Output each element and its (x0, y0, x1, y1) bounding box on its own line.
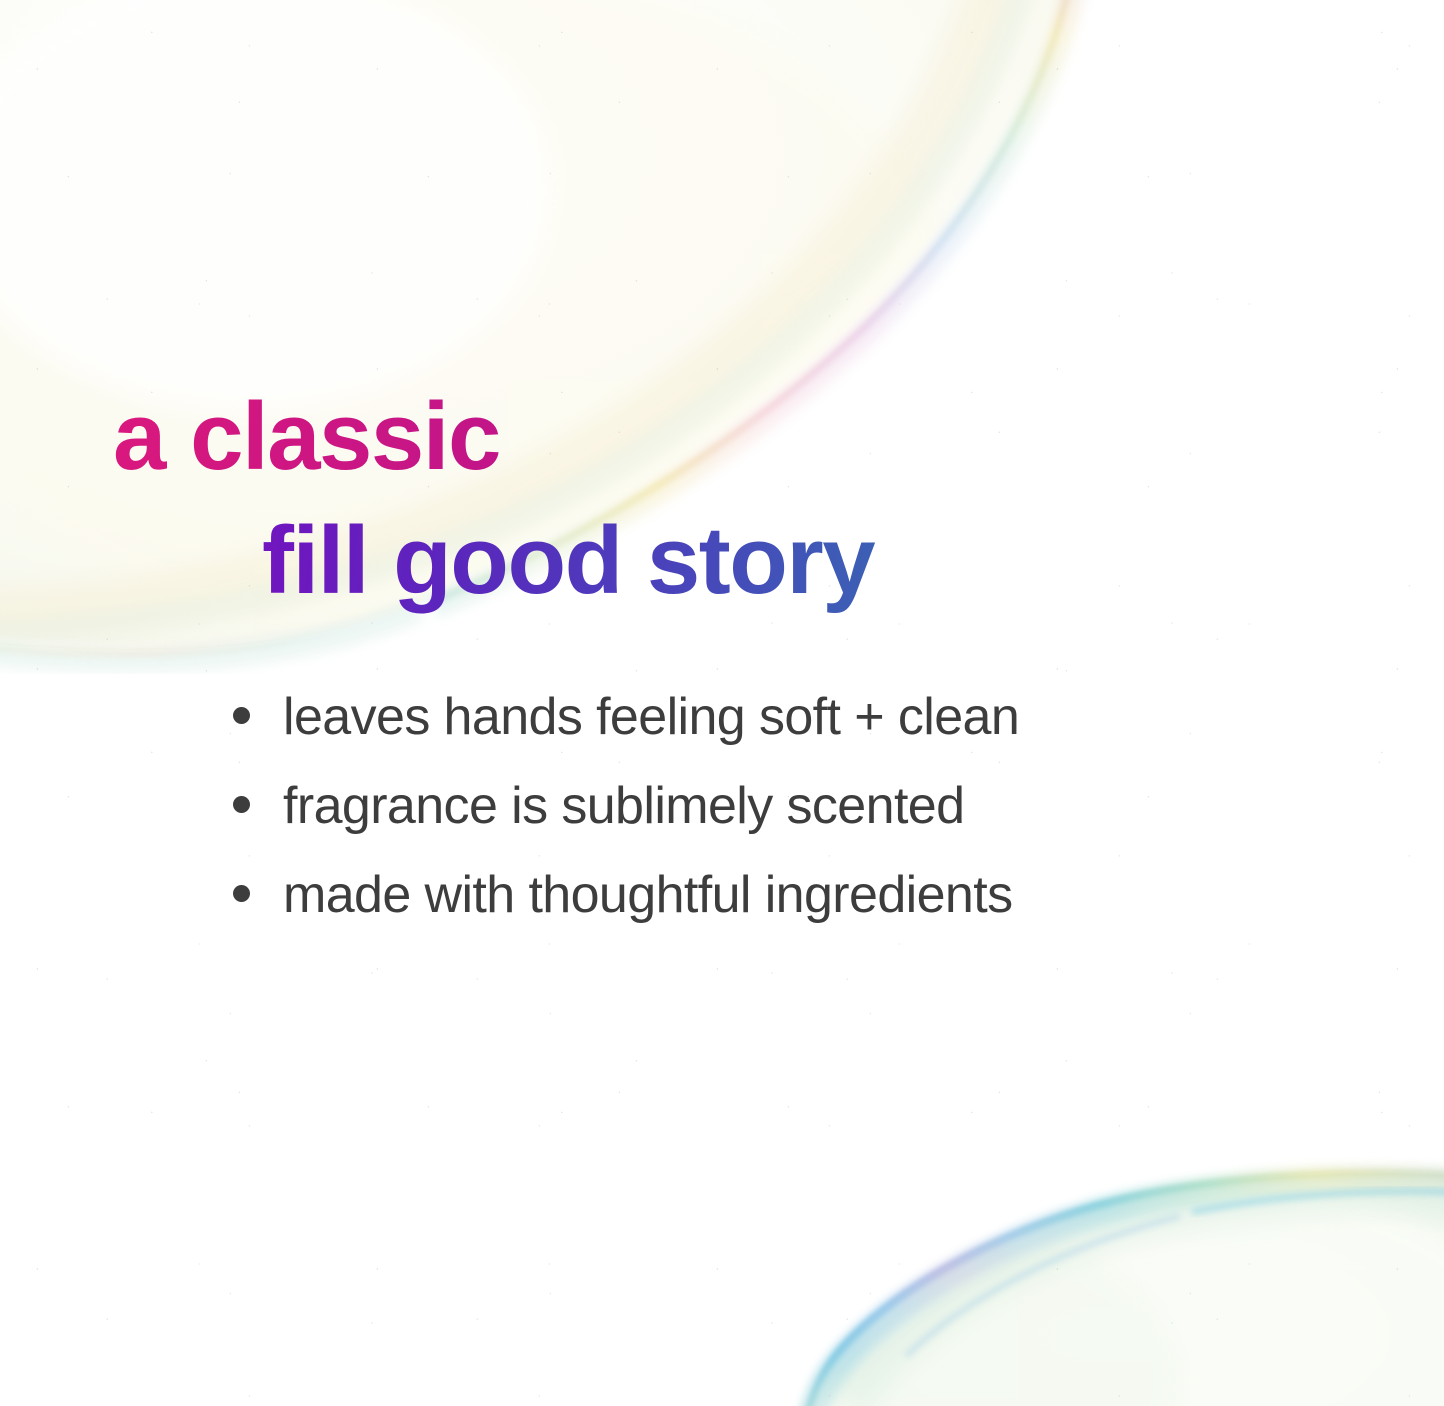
marketing-hero-card: a classic fill good story leaves hands f… (0, 0, 1444, 1406)
bullet-dot-icon (233, 885, 250, 902)
headline-line-1: a classic (0, 378, 1444, 496)
page-title: a classic fill good story (0, 378, 1444, 620)
list-item-label: made with thoughtful ingredients (283, 864, 1013, 926)
list-item-label: leaves hands feeling soft + clean (283, 686, 1019, 748)
bullet-dot-icon (233, 707, 250, 724)
content-layer: a classic fill good story leaves hands f… (0, 0, 1444, 1406)
list-item: leaves hands feeling soft + clean (233, 686, 1019, 748)
headline-line-2: fill good story (0, 502, 1444, 620)
list-item: made with thoughtful ingredients (233, 864, 1019, 926)
benefit-list: leaves hands feeling soft + clean fragra… (233, 686, 1019, 926)
list-item-label: fragrance is sublimely scented (283, 775, 964, 837)
list-item: fragrance is sublimely scented (233, 775, 1019, 837)
bullet-dot-icon (233, 796, 250, 813)
